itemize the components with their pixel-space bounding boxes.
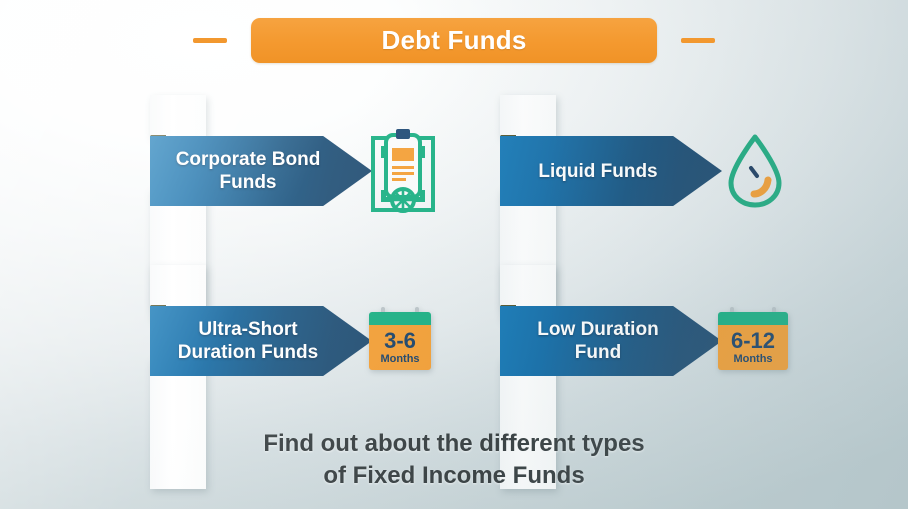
arrow-label: Corporate Bond Funds — [150, 148, 334, 194]
ribbon-band-upper — [500, 95, 556, 137]
title-row: Debt Funds — [0, 18, 908, 63]
infographic-canvas: Debt Funds Corporate Bond Funds — [0, 0, 908, 509]
badge-unit: Months — [733, 353, 772, 366]
calendar-icon: 3-6 Months — [364, 307, 436, 375]
arrow-label: Low Duration Fund — [500, 318, 684, 364]
badge-value: 6-12 — [731, 330, 775, 352]
title-banner: Debt Funds — [251, 18, 657, 63]
arrow-ribbon[interactable]: Ultra-Short Duration Funds — [150, 306, 372, 376]
calendar-icon: 6-12 Months — [714, 307, 792, 375]
arrow-ribbon[interactable]: Corporate Bond Funds — [150, 136, 372, 206]
badge-unit: Months — [380, 353, 419, 366]
calendar-body: 6-12 Months — [718, 325, 788, 370]
arrow-label-line2: Funds — [162, 171, 334, 194]
caption-line1: Find out about the different types — [0, 428, 908, 460]
water-droplet-icon — [720, 128, 790, 214]
calendar-badge: 3-6 Months — [369, 312, 431, 370]
calendar-header — [718, 312, 788, 325]
arrow-label-line2: Duration Funds — [162, 341, 334, 364]
arrow-label: Ultra-Short Duration Funds — [150, 318, 334, 364]
page-title: Debt Funds — [382, 25, 527, 56]
arrow-label-line1: Corporate Bond — [162, 148, 334, 171]
arrow-label: Liquid Funds — [500, 160, 684, 183]
arrow-ribbon[interactable]: Low Duration Fund — [500, 306, 722, 376]
arrow-label-line1: Ultra-Short — [162, 318, 334, 341]
calendar-header — [369, 312, 431, 325]
caption: Find out about the different types of Fi… — [0, 428, 908, 492]
arrow-label-line1: Liquid Funds — [512, 160, 684, 183]
arrow-ribbon[interactable]: Liquid Funds — [500, 136, 722, 206]
title-dash-left-icon — [193, 38, 227, 43]
calendar-badge: 6-12 Months — [718, 312, 788, 370]
certificate-clipboard-icon — [364, 123, 442, 219]
calendar-body: 3-6 Months — [369, 325, 431, 370]
title-dash-right-icon — [681, 38, 715, 43]
arrow-label-line1: Low Duration Fund — [512, 318, 684, 364]
ribbon-band-upper — [150, 265, 206, 307]
badge-value: 3-6 — [384, 330, 416, 352]
caption-line2: of Fixed Income Funds — [0, 460, 908, 492]
ribbon-band-upper — [500, 265, 556, 307]
ribbon-band-upper — [150, 95, 206, 137]
